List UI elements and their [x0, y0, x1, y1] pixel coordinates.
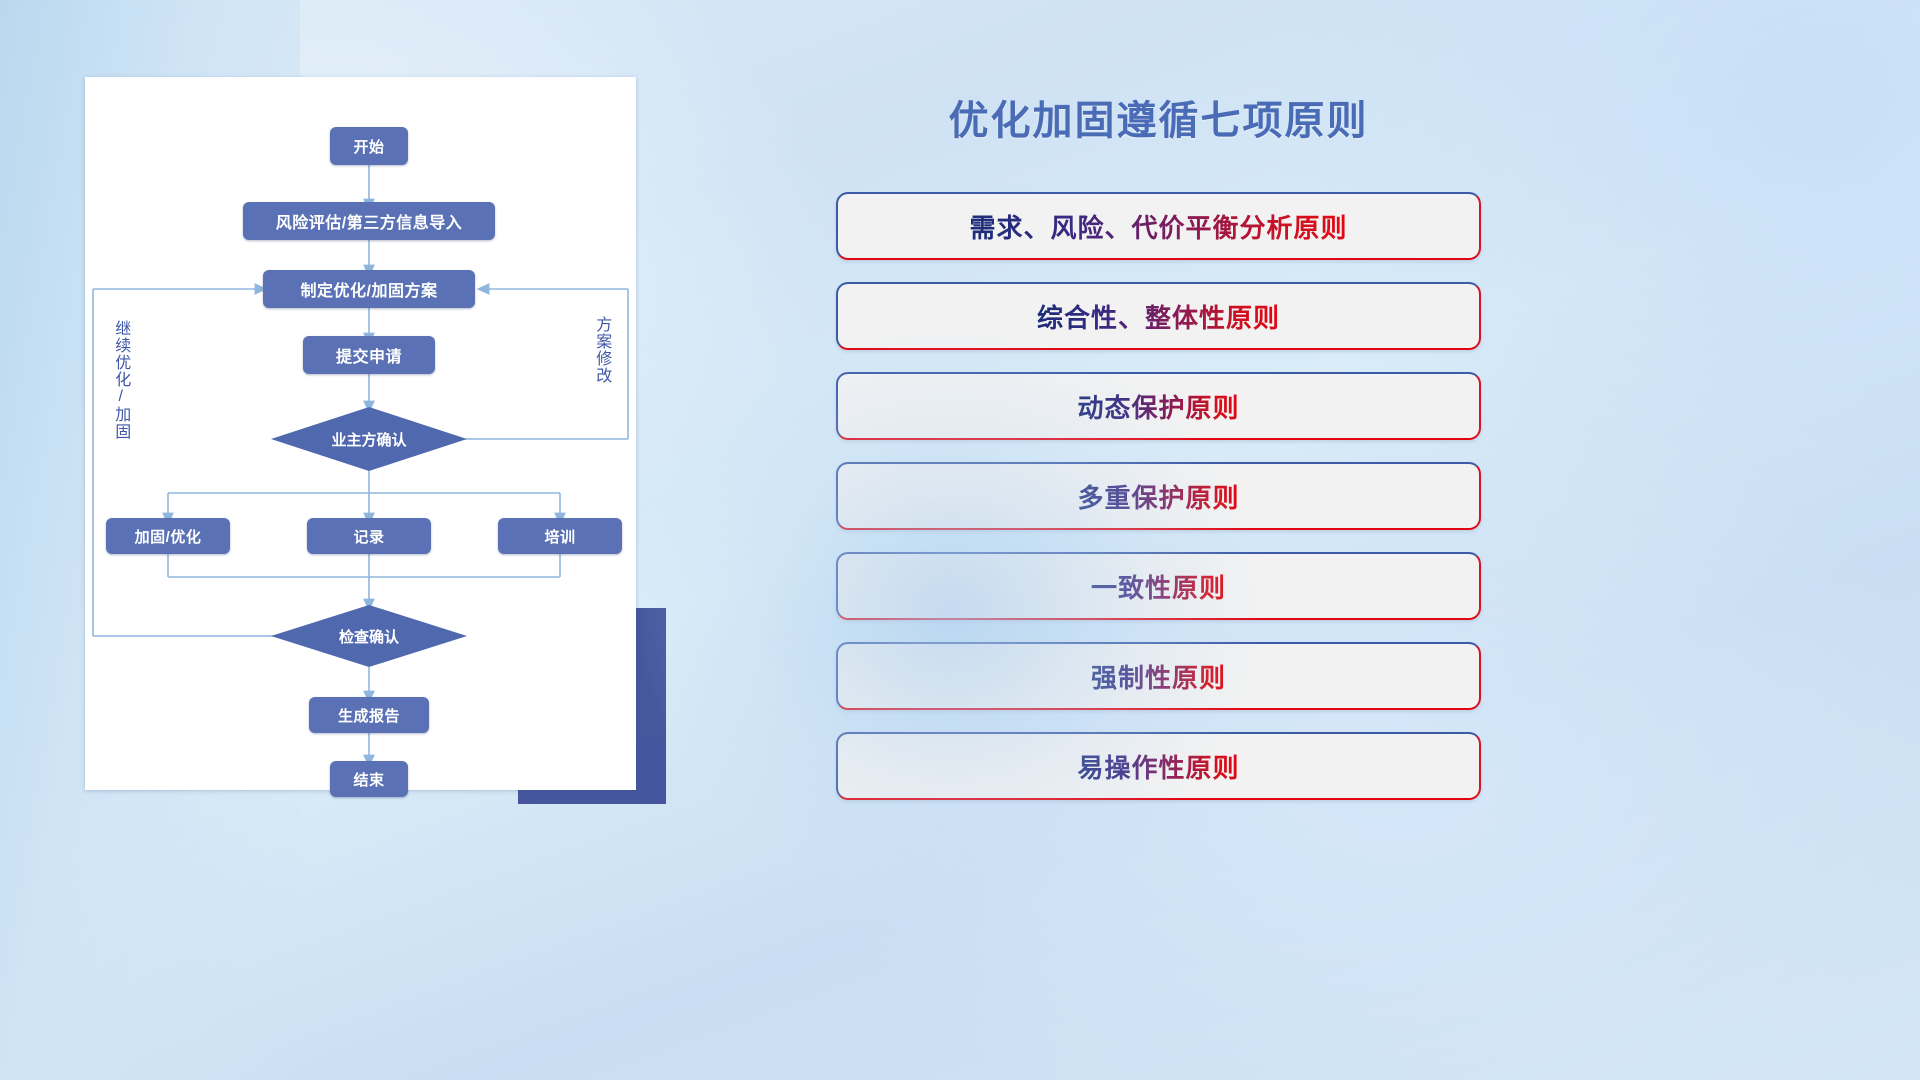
principle-label: 综合性、整体性原则	[1037, 298, 1280, 335]
principle-label: 易操作性原则	[1077, 748, 1239, 785]
flow-node-label: 结束	[353, 769, 384, 790]
flow-node-label: 业主方确认	[271, 407, 467, 471]
flow-node-end[interactable]: 结束	[330, 761, 408, 797]
principle-label: 多重保护原则	[1077, 478, 1239, 515]
flow-node-label: 记录	[353, 526, 384, 547]
slide-canvas: 开始 风险评估/第三方信息导入 制定优化/加固方案 提交申请 业主方确认 加固/…	[0, 0, 1920, 1080]
flow-node-label: 检查确认	[271, 605, 467, 667]
flow-node-training[interactable]: 培训	[498, 518, 622, 554]
flow-node-label: 加固/优化	[135, 526, 202, 547]
flow-node-label: 提交申请	[336, 343, 402, 367]
principle-label: 强制性原则	[1091, 658, 1226, 695]
principle-item[interactable]: 需求、风险、代价平衡分析原则	[836, 192, 1481, 260]
flow-node-submit-application[interactable]: 提交申请	[303, 336, 435, 374]
flow-decision-owner-confirm[interactable]: 业主方确认	[271, 407, 467, 471]
flow-decision-inspection-confirm[interactable]: 检查确认	[271, 605, 467, 667]
principle-item[interactable]: 综合性、整体性原则	[836, 282, 1481, 350]
flow-node-generate-report[interactable]: 生成报告	[309, 697, 429, 733]
flow-node-label: 培训	[544, 526, 575, 547]
flow-node-plan[interactable]: 制定优化/加固方案	[263, 270, 475, 308]
principle-item[interactable]: 一致性原则	[836, 552, 1481, 620]
flow-edge-label-continue-optimize: 继续优化/加固	[112, 320, 129, 440]
flow-node-label: 开始	[353, 136, 384, 157]
flow-node-label: 制定优化/加固方案	[301, 277, 438, 301]
principle-label: 一致性原则	[1091, 568, 1226, 605]
flow-edge-label-plan-revision: 方案修改	[593, 316, 610, 384]
flow-node-risk-assessment[interactable]: 风险评估/第三方信息导入	[243, 202, 495, 240]
principle-item[interactable]: 强制性原则	[836, 642, 1481, 710]
flow-node-reinforce-optimize[interactable]: 加固/优化	[106, 518, 230, 554]
principle-item[interactable]: 多重保护原则	[836, 462, 1481, 530]
principle-item[interactable]: 易操作性原则	[836, 732, 1481, 800]
principle-item[interactable]: 动态保护原则	[836, 372, 1481, 440]
flow-node-record[interactable]: 记录	[307, 518, 431, 554]
flow-node-start[interactable]: 开始	[330, 127, 408, 165]
principle-label: 动态保护原则	[1077, 388, 1239, 425]
panel-title: 优化加固遵循七项原则	[836, 88, 1481, 146]
principle-label: 需求、风险、代价平衡分析原则	[969, 208, 1347, 245]
flowchart-card: 开始 风险评估/第三方信息导入 制定优化/加固方案 提交申请 业主方确认 加固/…	[85, 77, 636, 790]
flow-node-label: 风险评估/第三方信息导入	[276, 209, 462, 233]
flow-node-label: 生成报告	[338, 705, 400, 726]
principles-list: 需求、风险、代价平衡分析原则 综合性、整体性原则 动态保护原则 多重保护原则 一…	[836, 192, 1481, 822]
